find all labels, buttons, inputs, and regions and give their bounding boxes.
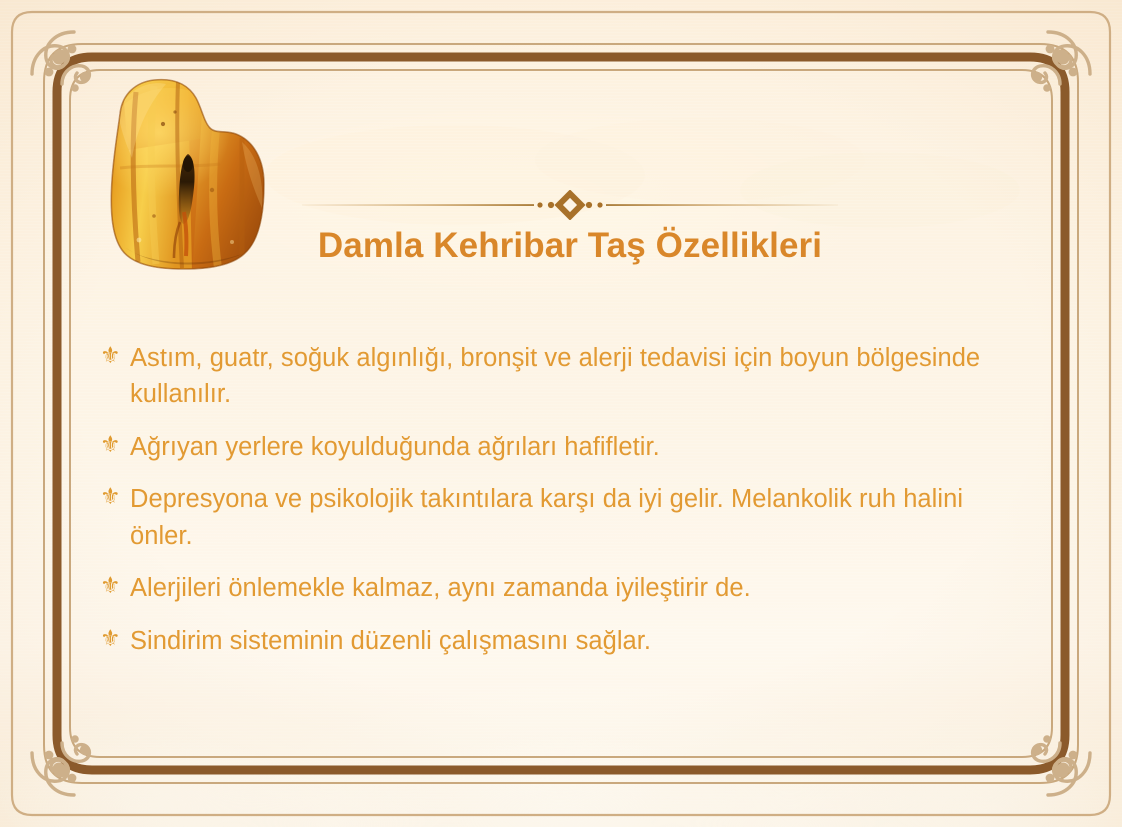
- fleur-de-lis-icon: ⚜: [100, 627, 130, 650]
- list-item: ⚜ Astım, guatr, soğuk algınlığı, bronşit…: [100, 340, 1030, 413]
- fleur-de-lis-icon: ⚜: [100, 344, 130, 367]
- page-title: Damla Kehribar Taş Özellikleri: [290, 226, 850, 267]
- list-item-label: Depresyona ve psikolojik takıntılara kar…: [130, 481, 1030, 554]
- list-item-label: Ağrıyan yerlere koyulduğunda ağrıları ha…: [130, 429, 1030, 465]
- list-item: ⚜ Sindirim sisteminin düzenli çalışmasın…: [100, 623, 1030, 659]
- fleur-de-lis-icon: ⚜: [100, 485, 130, 508]
- list-item: ⚜ Alerjileri önlemekle kalmaz, aynı zama…: [100, 570, 1030, 606]
- list-item-label: Alerjileri önlemekle kalmaz, aynı zamand…: [130, 570, 1030, 606]
- list-item-label: Sindirim sisteminin düzenli çalışmasını …: [130, 623, 1030, 659]
- fleur-de-lis-icon: ⚜: [100, 433, 130, 456]
- amber-properties-card: Damla Kehribar Taş Özellikleri ⚜ Astım, …: [0, 0, 1122, 827]
- heading-block: Damla Kehribar Taş Özellikleri: [290, 190, 850, 267]
- amber-stone-photo: [92, 72, 282, 276]
- list-item: ⚜ Depresyona ve psikolojik takıntılara k…: [100, 481, 1030, 554]
- diamond-divider-ornament: [300, 190, 840, 220]
- list-item-label: Astım, guatr, soğuk algınlığı, bronşit v…: [130, 340, 1030, 413]
- fleur-de-lis-icon: ⚜: [100, 574, 130, 597]
- feature-list: ⚜ Astım, guatr, soğuk algınlığı, bronşit…: [100, 340, 1030, 675]
- list-item: ⚜ Ağrıyan yerlere koyulduğunda ağrıları …: [100, 429, 1030, 465]
